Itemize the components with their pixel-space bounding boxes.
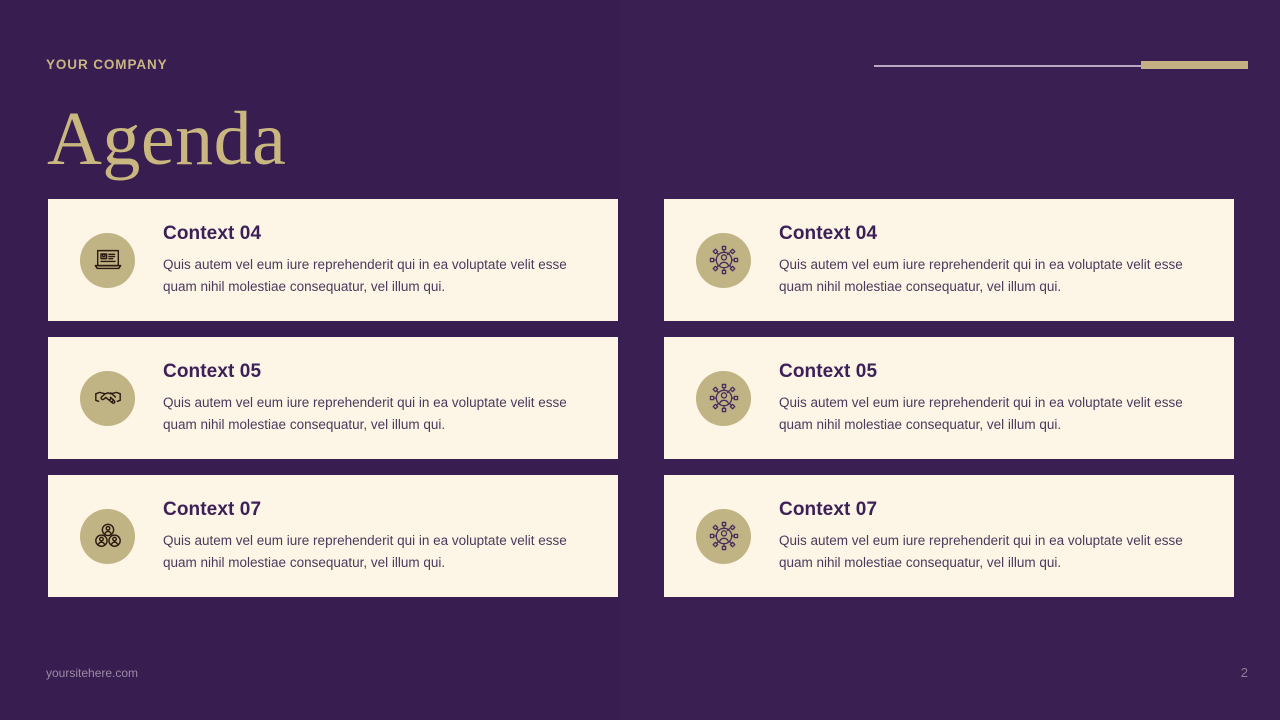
agenda-card-body: Context 05Quis autem vel eum iure repreh… xyxy=(163,361,598,435)
agenda-card-body: Context 07Quis autem vel eum iure repreh… xyxy=(163,499,598,573)
user-gear-icon xyxy=(696,233,751,288)
agenda-card[interactable]: Context 05Quis autem vel eum iure repreh… xyxy=(48,337,618,459)
agenda-card-body: Context 05Quis autem vel eum iure repreh… xyxy=(779,361,1214,435)
agenda-card-description: Quis autem vel eum iure reprehenderit qu… xyxy=(779,530,1214,573)
team-group-icon xyxy=(80,509,135,564)
agenda-card[interactable]: Context 04Quis autem vel eum iure repreh… xyxy=(48,199,618,321)
agenda-card-title: Context 04 xyxy=(163,223,598,245)
agenda-card[interactable]: Context 04Quis autem vel eum iure repreh… xyxy=(664,199,1234,321)
agenda-slide: YOUR COMPANY Agenda Context 04Quis autem… xyxy=(0,0,1280,720)
agenda-card-description: Quis autem vel eum iure reprehenderit qu… xyxy=(163,392,598,435)
agenda-card-body: Context 07Quis autem vel eum iure repreh… xyxy=(779,499,1214,573)
site-url: yoursitehere.com xyxy=(46,666,138,680)
agenda-card-description: Quis autem vel eum iure reprehenderit qu… xyxy=(779,254,1214,297)
agenda-card-body: Context 04Quis autem vel eum iure repreh… xyxy=(163,223,598,297)
page-title: Agenda xyxy=(47,96,286,182)
agenda-card[interactable]: Context 07Quis autem vel eum iure repreh… xyxy=(48,475,618,597)
company-label: YOUR COMPANY xyxy=(46,57,168,72)
page-number: 2 xyxy=(1241,665,1248,680)
laptop-presentation-icon xyxy=(80,233,135,288)
agenda-card-title: Context 05 xyxy=(779,361,1214,383)
user-gear-icon xyxy=(696,371,751,426)
agenda-card-title: Context 07 xyxy=(163,499,598,521)
agenda-card-title: Context 04 xyxy=(779,223,1214,245)
agenda-card-body: Context 04Quis autem vel eum iure repreh… xyxy=(779,223,1214,297)
agenda-card[interactable]: Context 05Quis autem vel eum iure repreh… xyxy=(664,337,1234,459)
agenda-card-description: Quis autem vel eum iure reprehenderit qu… xyxy=(163,254,598,297)
handshake-icon xyxy=(80,371,135,426)
agenda-card-grid: Context 04Quis autem vel eum iure repreh… xyxy=(48,199,1235,598)
agenda-card-title: Context 07 xyxy=(779,499,1214,521)
agenda-card-title: Context 05 xyxy=(163,361,598,383)
agenda-card-description: Quis autem vel eum iure reprehenderit qu… xyxy=(779,392,1214,435)
agenda-card[interactable]: Context 07Quis autem vel eum iure repreh… xyxy=(664,475,1234,597)
header-rule-accent xyxy=(1141,61,1248,69)
agenda-card-description: Quis autem vel eum iure reprehenderit qu… xyxy=(163,530,598,573)
user-gear-icon xyxy=(696,509,751,564)
